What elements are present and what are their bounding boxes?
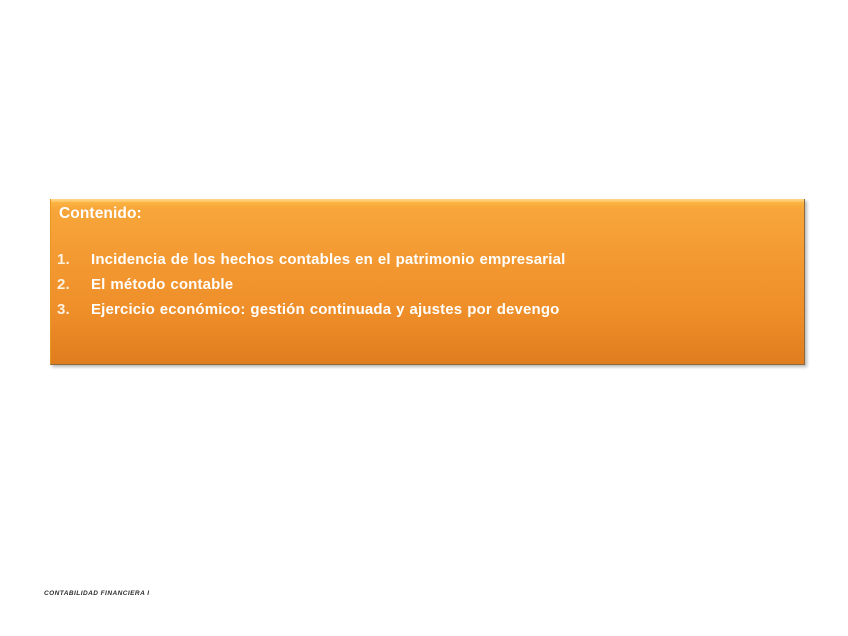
- slide-footer: CONTABILIDAD FINANCIERA I: [44, 590, 150, 597]
- list-item-label: Incidencia de los hechos contables en el…: [91, 251, 565, 268]
- list-item: 3. Ejercicio económico: gestión continua…: [51, 301, 804, 326]
- list-item-number: 2.: [57, 276, 91, 293]
- content-callout-box: Contenido: 1. Incidencia de los hechos c…: [50, 199, 805, 365]
- list-item-number: 1.: [57, 251, 91, 268]
- list-item-label: El método contable: [91, 276, 233, 293]
- slide-canvas: Contenido: 1. Incidencia de los hechos c…: [0, 0, 848, 636]
- list-item-number: 3.: [57, 301, 91, 318]
- list-item: 1. Incidencia de los hechos contables en…: [51, 251, 804, 276]
- content-box-heading: Contenido:: [59, 205, 142, 223]
- list-item: 2. El método contable: [51, 276, 804, 301]
- content-list: 1. Incidencia de los hechos contables en…: [51, 251, 804, 326]
- list-item-label: Ejercicio económico: gestión continuada …: [91, 301, 559, 318]
